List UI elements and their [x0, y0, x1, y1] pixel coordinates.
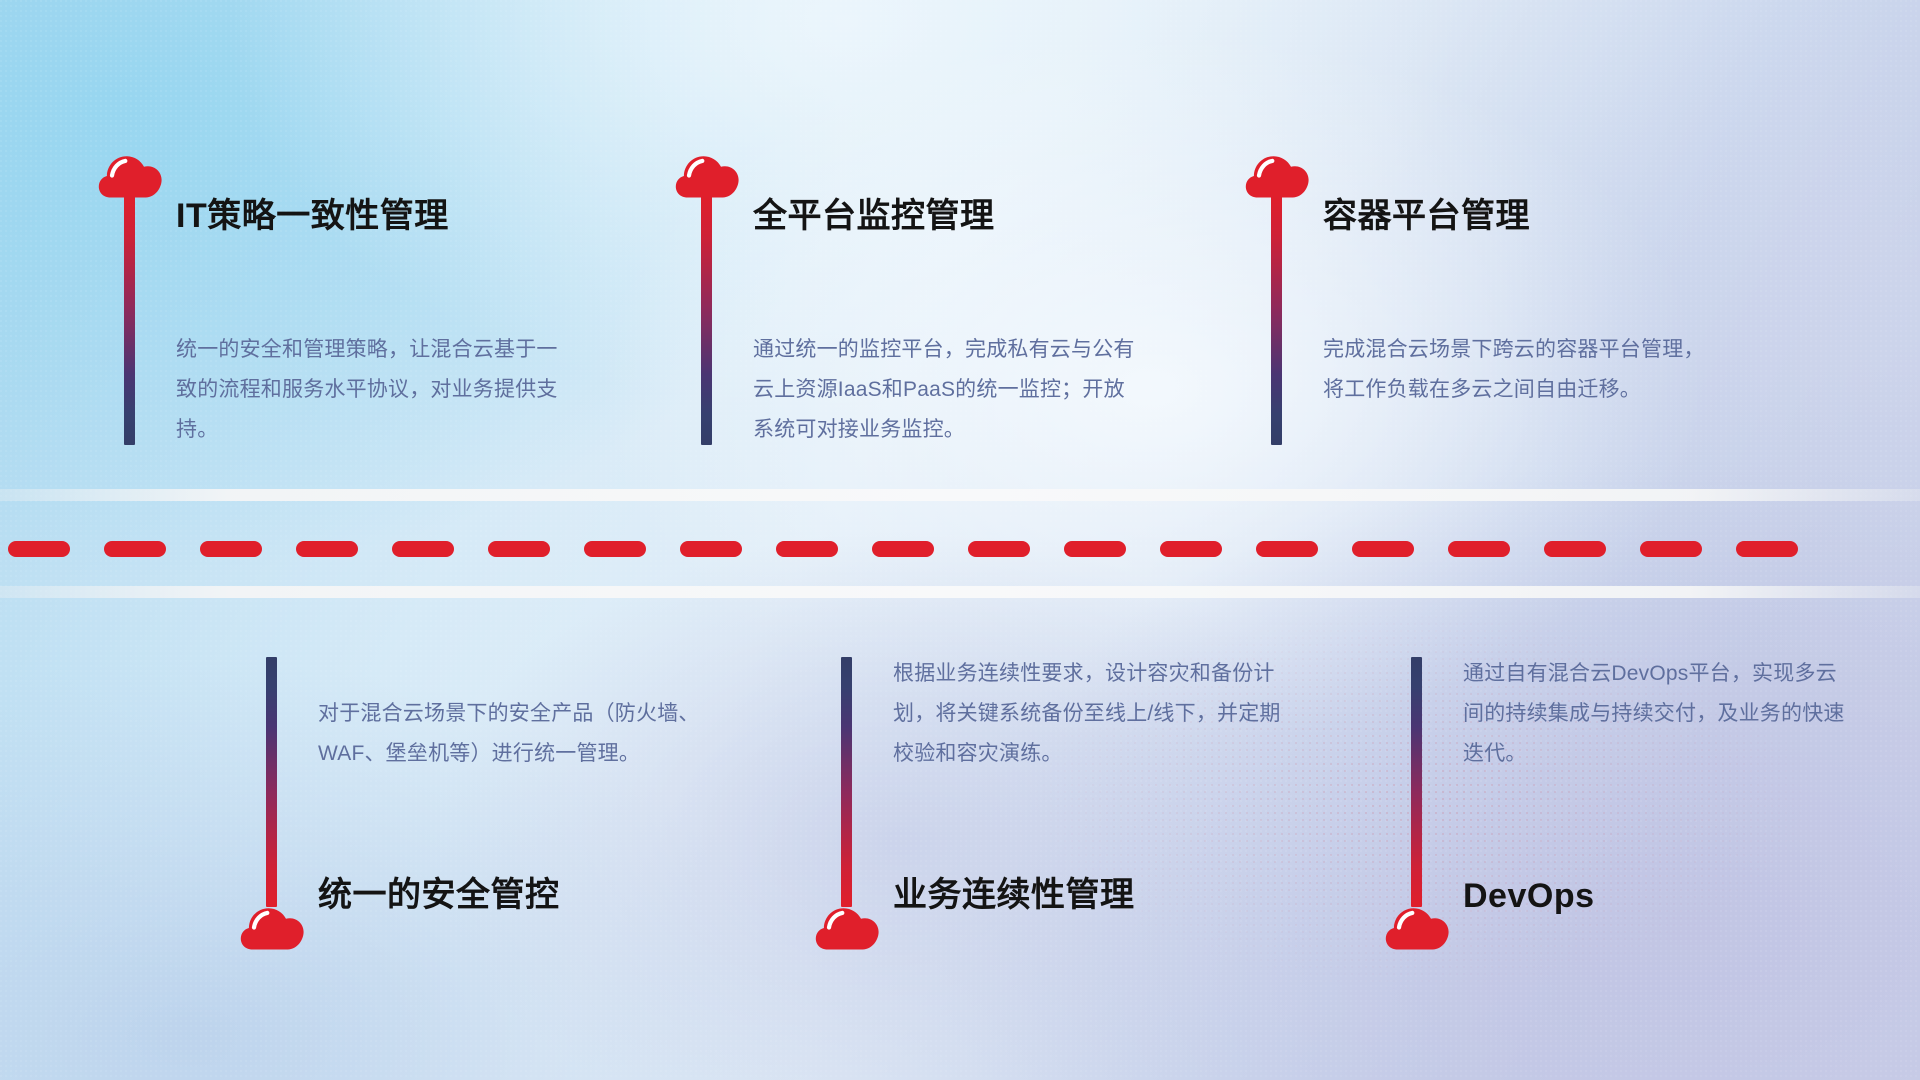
feature-description: 统一的安全和管理策略，让混合云基于一致的流程和服务水平协议，对业务提供支持。	[176, 330, 566, 450]
feature-title: DevOps	[1463, 877, 1595, 916]
divider-dash	[1256, 541, 1318, 557]
connector-line	[1271, 195, 1282, 445]
feature-title: 容器平台管理	[1323, 188, 1530, 237]
divider-dash	[200, 541, 262, 557]
divider-dash	[1064, 541, 1126, 557]
divider-dash	[1352, 541, 1414, 557]
feature-description: 通过统一的监控平台，完成私有云与公有云上资源IaaS和PaaS的统一监控；开放系…	[753, 330, 1143, 450]
divider-dash	[680, 541, 742, 557]
feature-title: 全平台监控管理	[753, 188, 995, 237]
connector-line	[701, 195, 712, 445]
feature-title: 业务连续性管理	[893, 867, 1135, 916]
divider-dash	[1160, 541, 1222, 557]
divider-dash	[968, 541, 1030, 557]
feature-description: 根据业务连续性要求，设计容灾和备份计划，将关键系统备份至线上/线下，并定期校验和…	[893, 654, 1283, 774]
connector-line	[266, 657, 277, 907]
divider-dash	[392, 541, 454, 557]
divider-dash	[1736, 541, 1798, 557]
divider-band-upper	[0, 489, 1920, 501]
divider-dash	[776, 541, 838, 557]
divider-dash	[104, 541, 166, 557]
divider-dash	[1640, 541, 1702, 557]
divider-dash	[872, 541, 934, 557]
infographic-canvas: IT策略一致性管理 统一的安全和管理策略，让混合云基于一致的流程和服务水平协议，…	[0, 0, 1920, 1080]
divider-band-lower	[0, 586, 1920, 598]
cloud-icon	[675, 150, 739, 200]
feature-title: IT策略一致性管理	[176, 188, 449, 237]
cloud-icon	[815, 902, 879, 952]
connector-line	[1411, 657, 1422, 907]
cloud-icon	[1245, 150, 1309, 200]
cloud-icon	[98, 150, 162, 200]
divider-dash	[584, 541, 646, 557]
feature-description: 对于混合云场景下的安全产品（防火墙、WAF、堡垒机等）进行统一管理。	[318, 694, 708, 774]
divider-dash	[1448, 541, 1510, 557]
cloud-icon	[1385, 902, 1449, 952]
divider-dashed-line	[0, 540, 1920, 557]
feature-description: 完成混合云场景下跨云的容器平台管理，将工作负载在多云之间自由迁移。	[1323, 330, 1713, 410]
divider-dash	[488, 541, 550, 557]
cloud-icon	[240, 902, 304, 952]
divider-dash	[1544, 541, 1606, 557]
connector-line	[124, 195, 135, 445]
feature-title: 统一的安全管控	[318, 867, 560, 916]
feature-description: 通过自有混合云DevOps平台，实现多云间的持续集成与持续交付，及业务的快速迭代…	[1463, 654, 1853, 774]
divider-dash	[8, 541, 70, 557]
divider-dash	[296, 541, 358, 557]
connector-line	[841, 657, 852, 907]
